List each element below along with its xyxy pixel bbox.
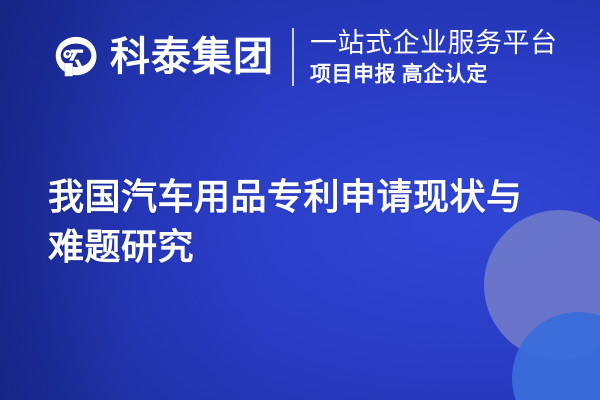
header-divider (292, 28, 294, 86)
brand-name: 科泰集团 (110, 35, 274, 79)
page-title: 我国汽车用品专利申请现状与难题研究 (48, 172, 558, 272)
tagline-sub: 项目申报 高企认定 (310, 63, 558, 86)
ketai-group-logo-icon (52, 33, 100, 81)
brand-lockup[interactable]: 科泰集团 (52, 33, 274, 81)
banner-content: 科泰集团 一站式企业服务平台 项目申报 高企认定 我国汽车用品专利申请现状与难题… (0, 0, 600, 400)
banner-header: 科泰集团 一站式企业服务平台 项目申报 高企认定 (52, 28, 558, 86)
tagline-main: 一站式企业服务平台 (310, 28, 558, 58)
promo-banner: 科泰集团 一站式企业服务平台 项目申报 高企认定 我国汽车用品专利申请现状与难题… (0, 0, 600, 400)
tagline-block: 一站式企业服务平台 项目申报 高企认定 (310, 28, 558, 86)
